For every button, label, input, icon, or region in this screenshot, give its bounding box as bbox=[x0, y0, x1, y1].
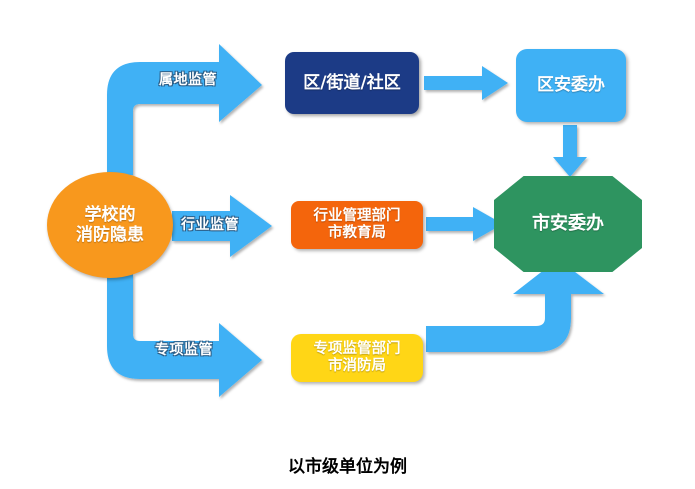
flow-diagram-canvas: 学校的 消防隐患 区/街道/社区 区安委办 行业管理部门 市教育局 专项监管部门… bbox=[0, 0, 695, 489]
arrow-special-to-city-office bbox=[426, 259, 604, 352]
edge-label-local-supervision: 属地监管 bbox=[159, 69, 217, 89]
arrow-district-office-to-city-office bbox=[553, 125, 587, 177]
node-source-school-fire-hazard[interactable]: 学校的 消防隐患 bbox=[47, 172, 173, 278]
node-special-supervision-dept[interactable]: 专项监管部门 市消防局 bbox=[291, 334, 423, 382]
node-special-dept-label: 专项监管部门 市消防局 bbox=[314, 341, 401, 375]
arrow-district-to-district-office bbox=[424, 66, 508, 100]
node-city-safety-committee-office[interactable]: 市安委办 bbox=[494, 176, 642, 272]
arrow-industry-to-city-office bbox=[426, 207, 503, 241]
edge-label-special-supervision: 专项监管 bbox=[155, 339, 213, 359]
node-district-street-community[interactable]: 区/街道/社区 bbox=[285, 52, 419, 114]
node-district-safety-committee-office[interactable]: 区安委办 bbox=[516, 49, 626, 122]
diagram-caption: 以市级单位为例 bbox=[0, 452, 695, 477]
arrow-local-supervision bbox=[107, 44, 262, 175]
node-district-label: 区/街道/社区 bbox=[303, 73, 400, 93]
node-industry-dept-label: 行业管理部门 市教育局 bbox=[314, 208, 401, 242]
node-district-office-label: 区安委办 bbox=[537, 75, 605, 95]
arrow-special-supervision bbox=[107, 274, 262, 397]
edge-label-industry-supervision: 行业监管 bbox=[181, 214, 239, 234]
node-source-label: 学校的 消防隐患 bbox=[76, 205, 144, 245]
node-industry-management-dept[interactable]: 行业管理部门 市教育局 bbox=[291, 201, 423, 249]
node-city-office-label: 市安委办 bbox=[532, 213, 604, 234]
